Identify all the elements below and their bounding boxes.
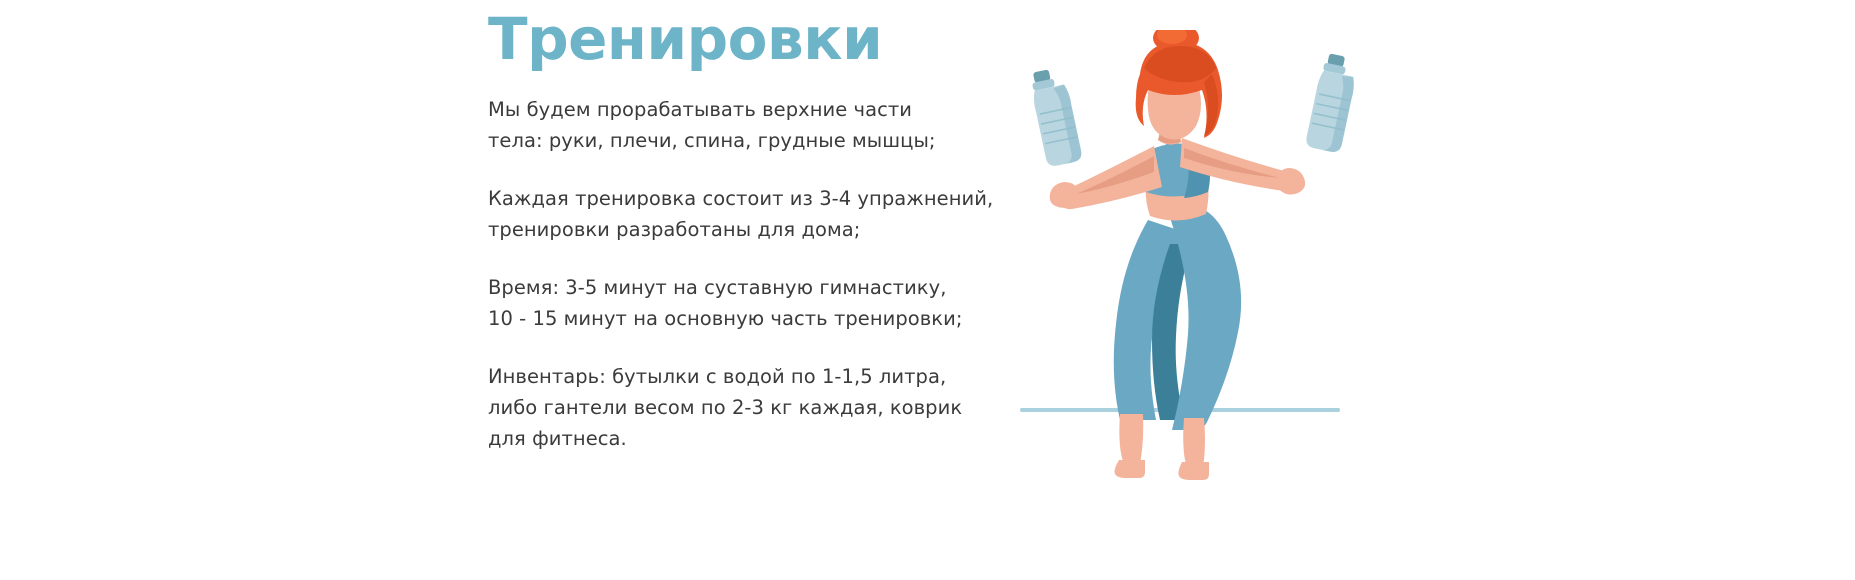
back-foot-shape (1115, 460, 1146, 478)
front-ankle-skin-shape (1183, 418, 1205, 468)
paragraph-equipment: Инвентарь: бутылки с водой по 1-1,5 литр… (488, 361, 1048, 454)
text-column: Тренировки Мы будем прорабатывать верхни… (488, 8, 1048, 454)
front-foot-shape (1178, 462, 1209, 480)
paragraph-workout-structure: Каждая тренировка состоит из 3-4 упражне… (488, 183, 1048, 245)
left-water-bottle-icon (1028, 66, 1084, 167)
slide-canvas: Тренировки Мы будем прорабатывать верхни… (0, 0, 1855, 580)
right-hand-shape (1277, 168, 1306, 195)
back-ankle-skin-shape (1119, 414, 1143, 466)
paragraph-duration: Время: 3-5 минут на суставную гимнастику… (488, 272, 1048, 334)
woman-exercising-illustration (1020, 30, 1440, 480)
paragraph-muscle-groups: Мы будем прорабатывать верхние части тел… (488, 94, 1048, 156)
page-title: Тренировки (488, 8, 1048, 72)
right-water-bottle-icon (1304, 52, 1360, 153)
